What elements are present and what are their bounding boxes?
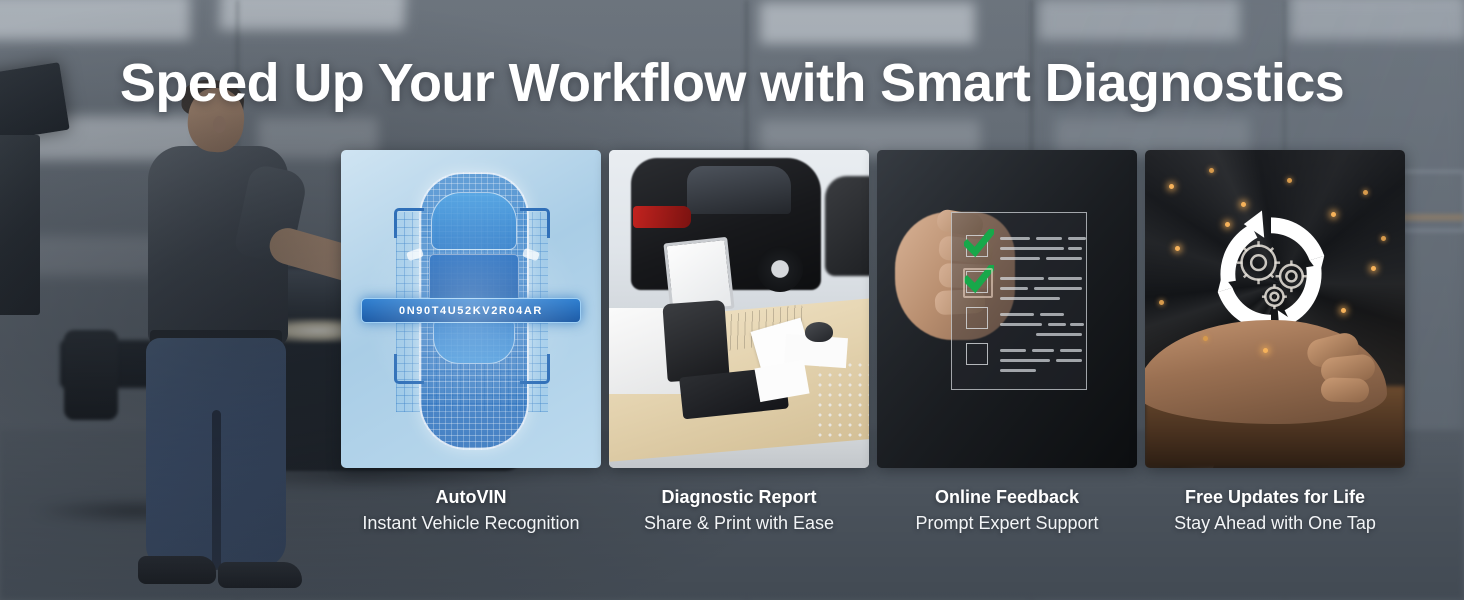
showroom-car-wheel: [757, 246, 803, 292]
caption-title: Diagnostic Report: [609, 484, 869, 510]
caption-title: Online Feedback: [877, 484, 1137, 510]
text-line: [1048, 323, 1066, 326]
text-line: [1000, 257, 1040, 260]
spark-particle: [1169, 184, 1174, 189]
spark-particle: [1241, 202, 1246, 207]
caption-subtitle: Share & Print with Ease: [609, 510, 869, 537]
checkbox-3[interactable]: [966, 307, 988, 329]
finger: [1321, 377, 1370, 403]
text-line: [1000, 237, 1030, 240]
caption-subtitle: Instant Vehicle Recognition: [341, 510, 601, 537]
caption-subtitle: Prompt Expert Support: [877, 510, 1137, 537]
text-line: [1036, 237, 1062, 240]
caption-subtitle: Stay Ahead with One Tap: [1145, 510, 1405, 537]
computer-mouse: [805, 322, 833, 342]
spark-particle: [1263, 348, 1268, 353]
card-glow: [341, 150, 601, 468]
feature-card-autovin[interactable]: 0N90T4U52KV2R04AR: [341, 150, 601, 468]
caption-title: Free Updates for Life: [1145, 484, 1405, 510]
text-line: [1000, 297, 1060, 300]
caption-online-feedback: Online Feedback Prompt Expert Support: [877, 484, 1137, 537]
spark-particle: [1371, 266, 1376, 271]
text-line: [1036, 333, 1082, 336]
text-line: [1000, 349, 1026, 352]
showroom-car-secondary: [825, 176, 869, 276]
showroom-car-taillight: [633, 206, 691, 228]
feature-card-free-updates[interactable]: [1145, 150, 1405, 468]
checkbox-4[interactable]: [966, 343, 988, 365]
feature-card-diagnostic-report[interactable]: [609, 150, 869, 468]
spark-particle: [1363, 190, 1368, 195]
office-chair: [815, 360, 869, 440]
checkmark-icon: [964, 229, 994, 257]
printer-top: [662, 300, 729, 382]
text-line: [1000, 369, 1036, 372]
caption-autovin: AutoVIN Instant Vehicle Recognition: [341, 484, 601, 537]
spark-particle: [1331, 212, 1336, 217]
text-line: [1048, 277, 1082, 280]
spark-particle: [1159, 300, 1164, 305]
text-line: [1000, 313, 1034, 316]
feature-card-row: 0N90T4U52KV2R04AR: [341, 150, 1407, 468]
text-line: [1046, 257, 1082, 260]
feature-caption-row: AutoVIN Instant Vehicle Recognition Diag…: [341, 484, 1407, 537]
spark-particle: [1341, 308, 1346, 313]
spark-particle: [1209, 168, 1214, 173]
spark-particle: [1381, 236, 1386, 241]
text-line: [1070, 323, 1084, 326]
text-line: [1056, 359, 1082, 362]
caption-title: AutoVIN: [341, 484, 601, 510]
spark-particle: [1225, 222, 1230, 227]
page-title: Speed Up Your Workflow with Smart Diagno…: [0, 52, 1464, 114]
text-line: [1068, 247, 1082, 250]
text-line: [1034, 287, 1082, 290]
caption-diagnostic-report: Diagnostic Report Share & Print with Eas…: [609, 484, 869, 537]
spark-particle: [1175, 246, 1180, 251]
caption-free-updates: Free Updates for Life Stay Ahead with On…: [1145, 484, 1405, 537]
text-line: [1068, 237, 1086, 240]
checklist-sheet: [951, 212, 1087, 390]
text-line: [1000, 359, 1050, 362]
feature-card-online-feedback[interactable]: [877, 150, 1137, 468]
text-line: [1040, 313, 1064, 316]
spark-particle: [1203, 336, 1208, 341]
text-line: [1000, 247, 1064, 250]
text-line: [1000, 323, 1042, 326]
text-line: [1000, 287, 1028, 290]
active-checkbox-highlight: [963, 268, 993, 298]
spark-particle: [1287, 178, 1292, 183]
text-line: [1000, 277, 1044, 280]
text-line: [1032, 349, 1054, 352]
text-line: [1060, 349, 1082, 352]
showroom-car-window: [687, 166, 791, 214]
